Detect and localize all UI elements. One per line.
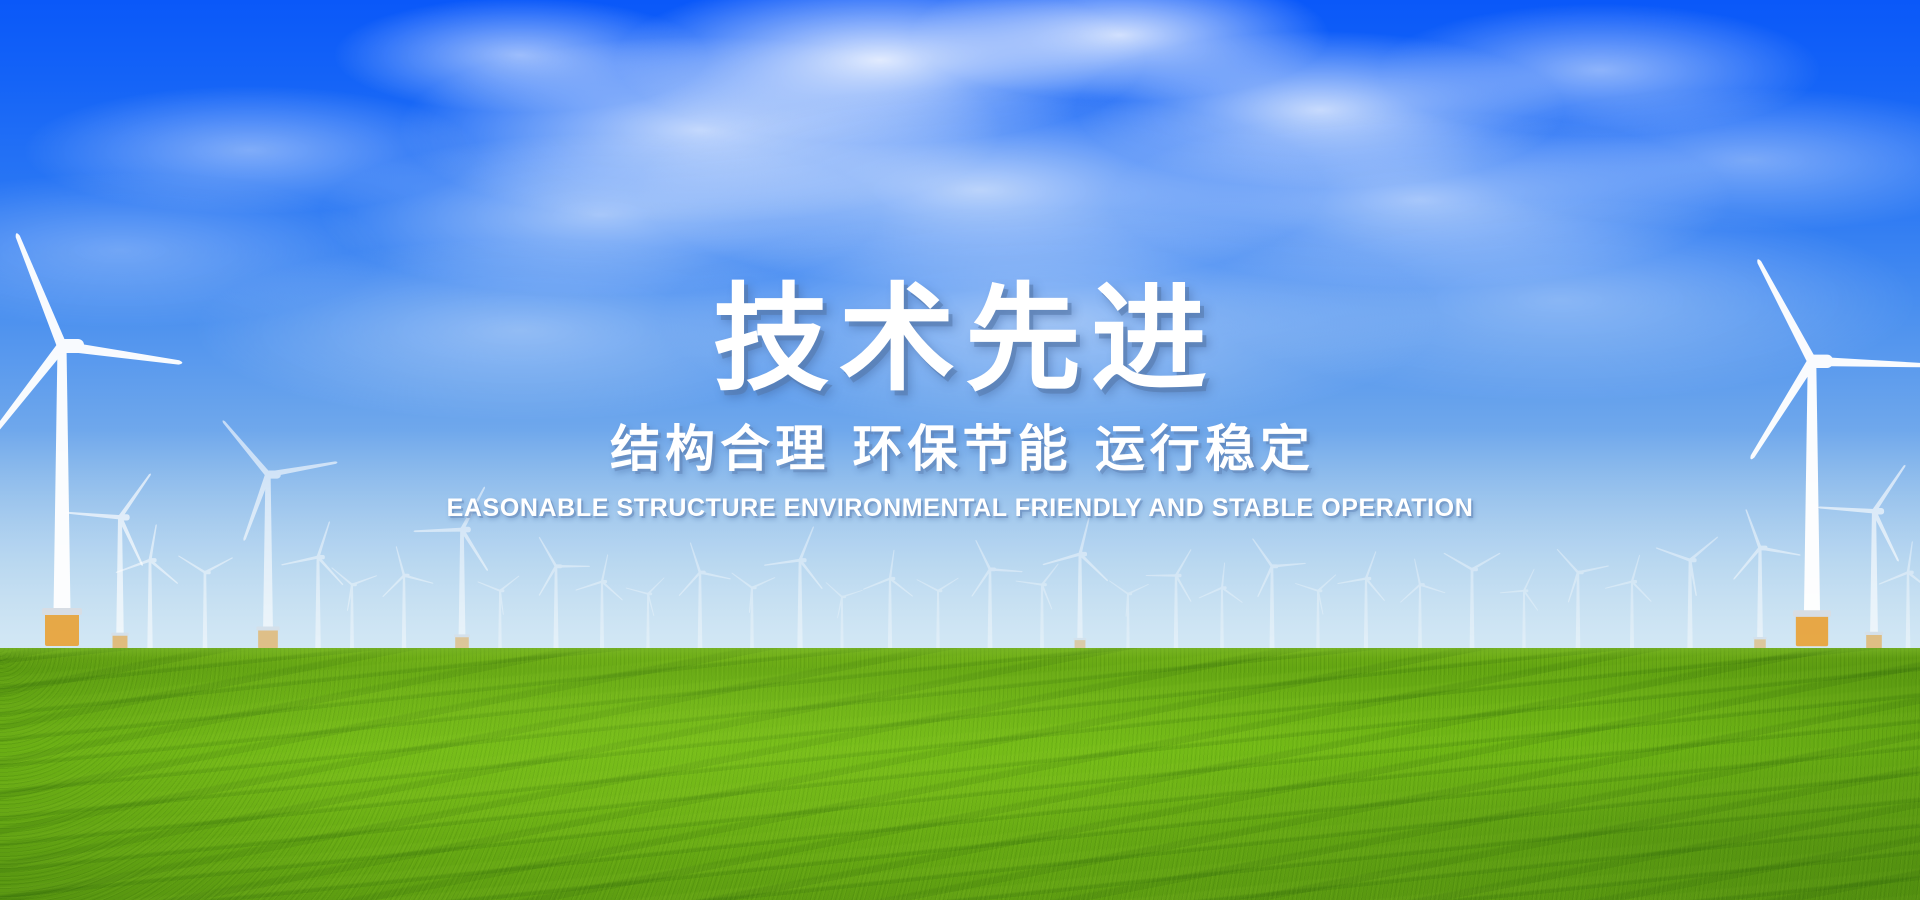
wind-turbine <box>474 564 526 652</box>
grass-shading <box>0 648 1920 900</box>
wind-turbine <box>1335 547 1397 652</box>
wind-turbine <box>1498 564 1550 652</box>
wind-turbine <box>1437 534 1507 652</box>
hero-banner: 技术先进 结构合理 环保节能 运行稳定 EASONABLE STRUCTURE … <box>0 0 1920 900</box>
wind-turbine <box>1874 538 1920 652</box>
grass-horizon-edge <box>0 648 1920 658</box>
wind-turbine <box>666 538 734 652</box>
wind-turbine-field <box>0 0 1920 652</box>
grass-field <box>0 648 1920 900</box>
